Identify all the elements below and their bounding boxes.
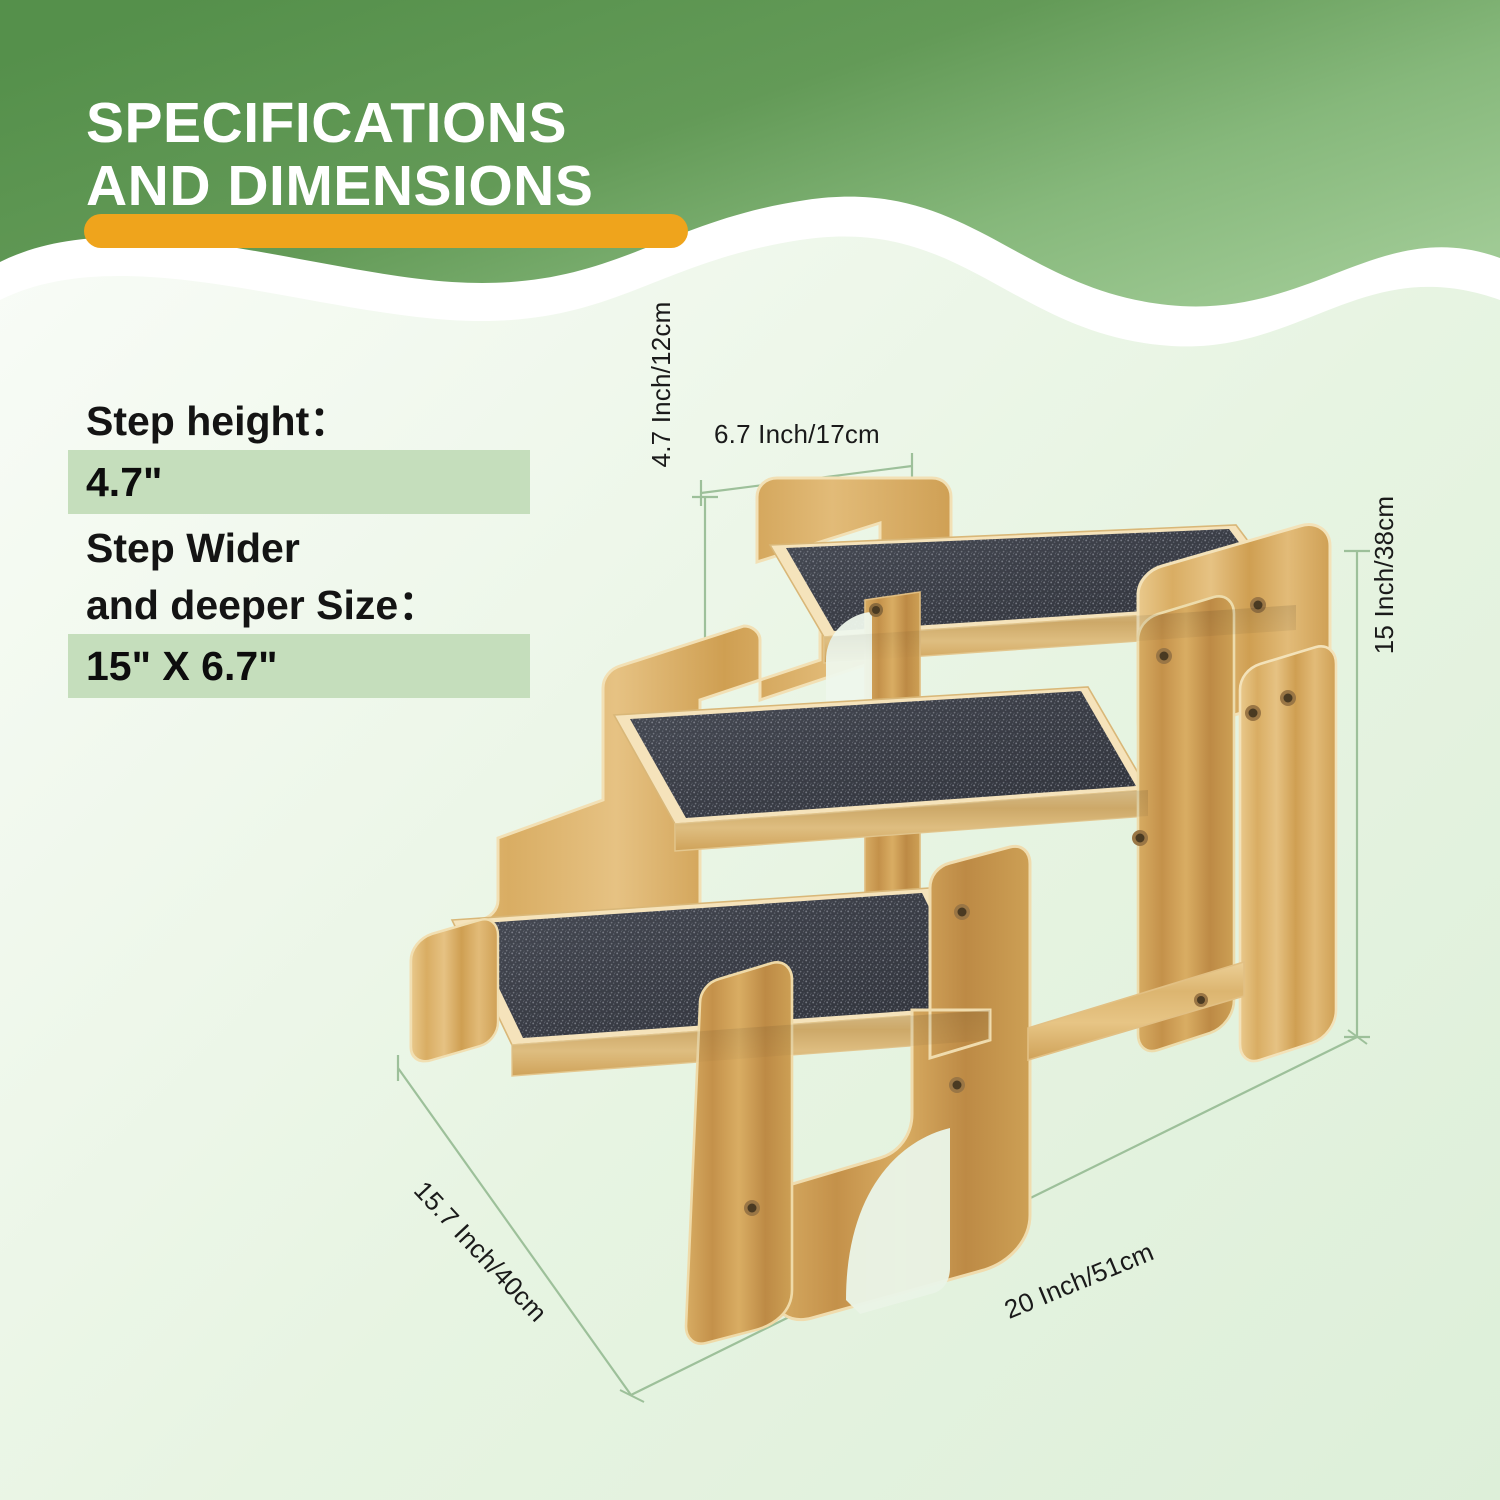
screw-top-right-4	[1280, 690, 1296, 706]
left-front-foot	[411, 919, 498, 1061]
screw-riser	[869, 603, 883, 617]
screw-mid-right-2	[1194, 993, 1208, 1007]
dimension-label-step-rise: 4.7 Inch/12cm	[646, 282, 677, 487]
product-illustration	[0, 0, 1500, 1500]
screw-front-panel-2	[949, 1077, 965, 1093]
screw-top-right-3	[1245, 705, 1261, 721]
screw-front-leg-1	[744, 1200, 760, 1216]
infographic-page: SPECIFICATIONS AND DIMENSIONS Step heigh…	[0, 0, 1500, 1500]
dimension-label-top-depth: 6.7 Inch/17cm	[714, 419, 880, 450]
pet-stairs-drawing	[411, 478, 1336, 1344]
screw-mid-right-1	[1132, 830, 1148, 846]
front-left-leg	[686, 962, 792, 1343]
dimension-label-total-height: 15 Inch/38cm	[1369, 450, 1400, 700]
screw-front-panel-1	[954, 904, 970, 920]
screw-top-right-2	[1156, 648, 1172, 664]
